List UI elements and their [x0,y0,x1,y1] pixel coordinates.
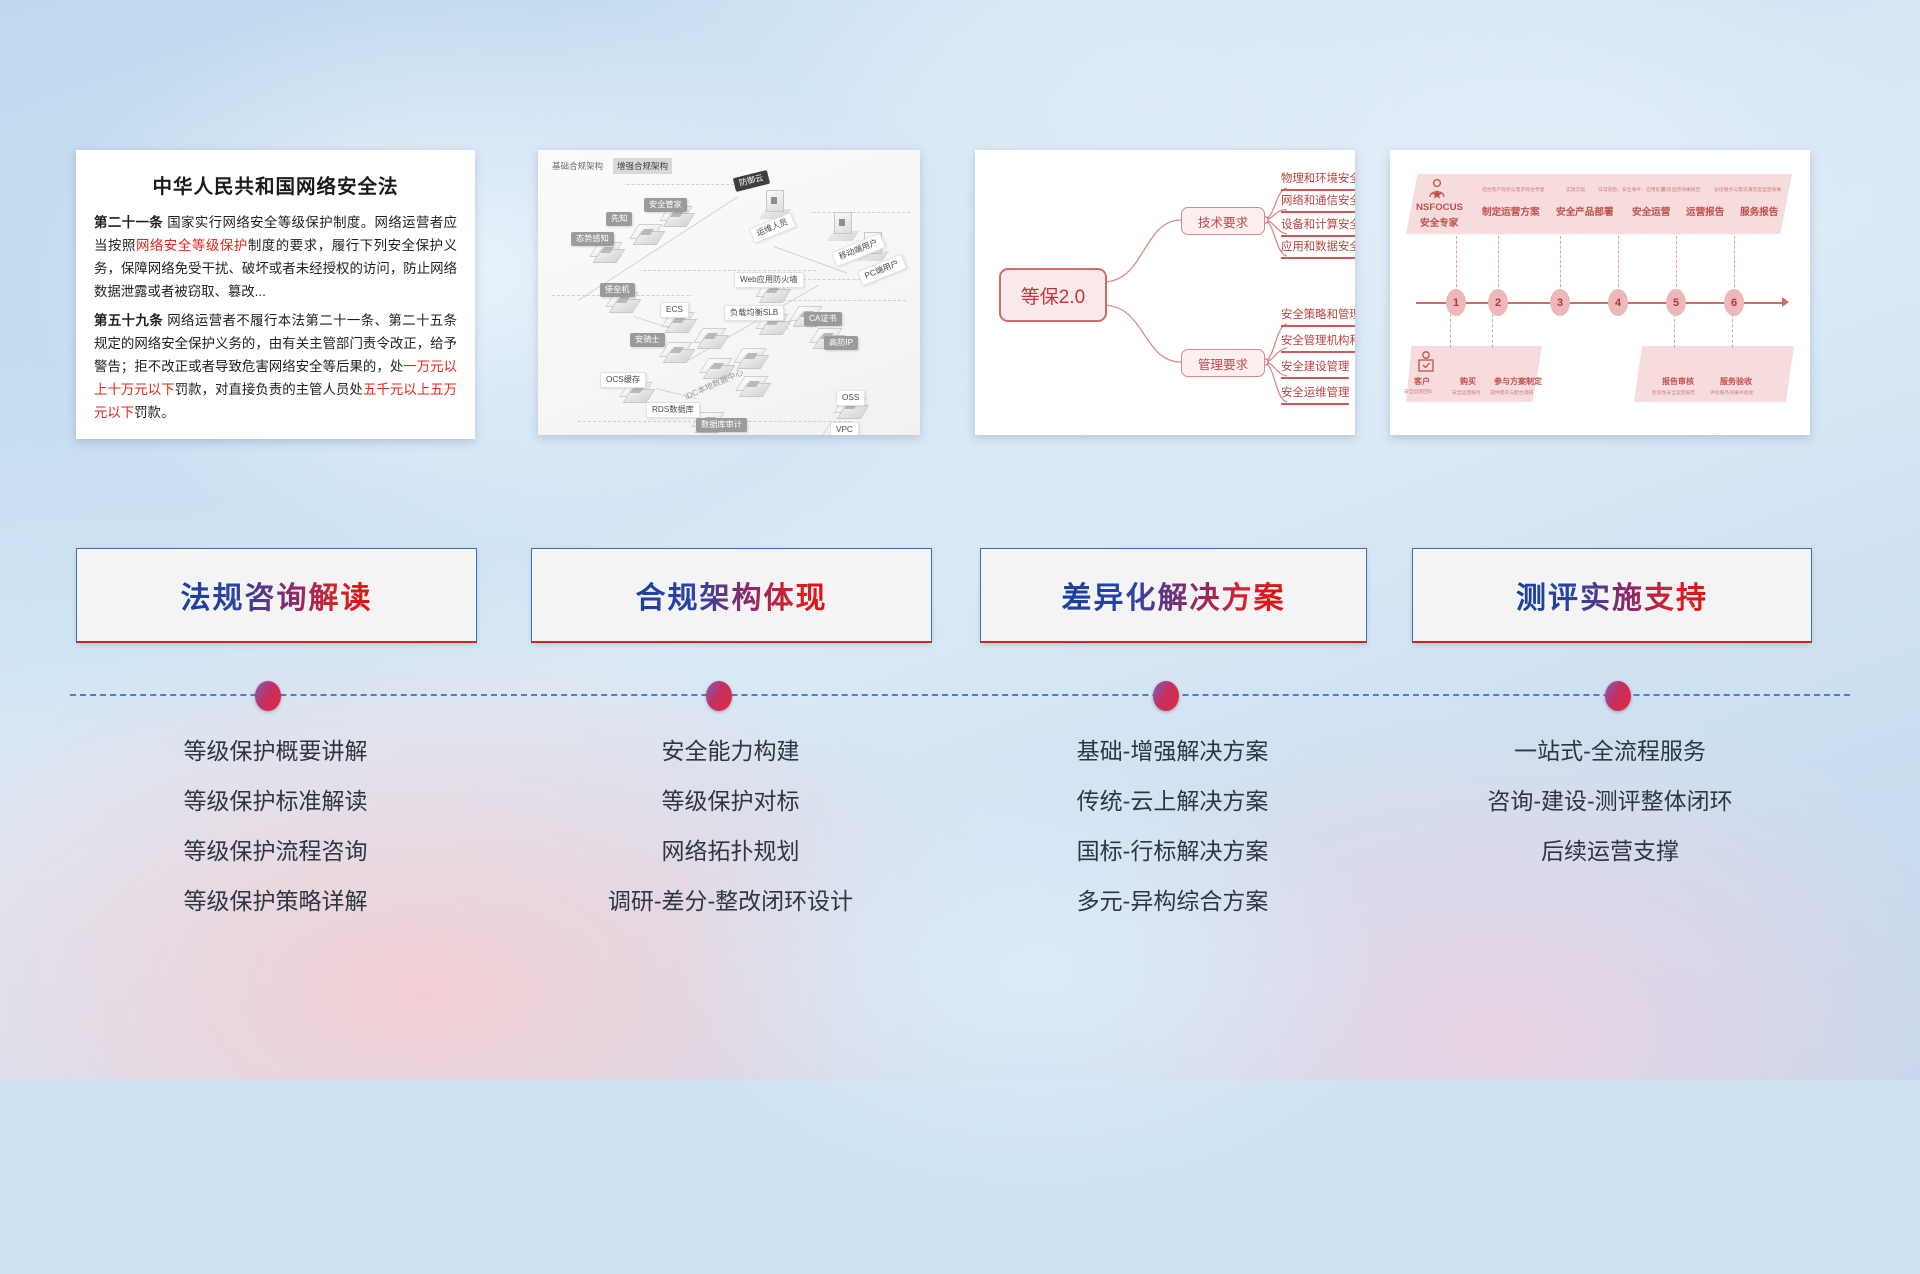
nsfocus-bot-sub-1: 安全运营服务 [1452,389,1481,396]
nsfocus-expert-name: NSFOCUS [1416,202,1463,213]
nsfocus-step-node-6[interactable]: 6 [1724,289,1744,316]
nsfocus-tick-6 [1734,236,1736,292]
nsfocus-bot-cap-1: 购买 [1460,376,1476,387]
law-seg-2-2: 罚款，对直接负责的主管人员处 [175,382,363,397]
nsfocus-top-cap-2: 安全产品部署 [1556,204,1614,218]
list-item: 网络拓扑规划 [531,840,930,863]
nsfocus-top-cap-5: 服务报告 [1740,204,1778,218]
nsfocus-expert-role: 安全专家 [1420,215,1458,229]
law-seg-2-4: 罚款。 [134,405,174,420]
mindmap-preview-card[interactable]: 等保2.0 技术要求 管理要求 物理和环境安全 网络和通信安全 设备和计算安全 … [975,150,1355,435]
arch-label-waf: Web应用防火墙 [734,272,804,288]
nsfocus-preview-card[interactable]: NSFOCUS 安全专家 客户 安全运营团队 结合客户现状与需求综合考量 制定运… [1390,150,1810,435]
nsfocus-step-node-1[interactable]: 1 [1446,289,1466,316]
list-item: 等级保护对标 [531,790,930,813]
nsfocus-top-sub-5: 总结服务与需求满足度运营效果 [1714,186,1781,193]
section-items-1: 等级保护概要讲解 等级保护标准解读 等级保护流程咨询 等级保护策略详解 [76,740,475,940]
arch-node-ecs-2 [698,328,728,348]
nsfocus-tick-2 [1498,236,1500,292]
mindmap-leaf-app-data: 应用和数据安全 [1281,240,1355,259]
arch-label-anti-ddos-ip: 高防IP [824,336,858,350]
arch-node-xianzhi [634,224,664,244]
arch-label-rds: RDS数据库 [646,402,700,418]
mindmap-leaf-ops-mgmt: 安全运维管理 [1281,386,1349,405]
architecture-diagram: 基础合规架构 增强合规架构 [538,150,920,435]
arch-label-ocs-cache: OCS缓存 [600,372,646,388]
list-item: 等级保护流程咨询 [76,840,475,863]
arch-label-db-audit: 数据库审计 [696,418,747,432]
nsfocus-step-node-3[interactable]: 3 [1550,289,1570,316]
nsfocus-top-sub-3: 日常巡检、安全事件、应用处置 [1598,186,1665,193]
law-preview-card[interactable]: 中华人民共和国网络安全法 第二十一条 国家实行网络安全等级保护制度。网络运营者应… [76,150,475,439]
arch-label-security-butler: 安全管家 [644,198,687,212]
nsfocus-bot-cap-3: 报告审核 [1662,376,1694,387]
arch-label-vpc: VPC [830,422,859,435]
mindmap-leaf-network-comm: 网络和通信安全 [1281,194,1355,213]
list-item: 安全能力构建 [531,740,930,763]
nsfocus-bot-sub-3: 阶段性安全运营报告 [1652,389,1695,396]
nsfocus-step-node-2[interactable]: 2 [1488,289,1508,316]
nsfocus-bot-sub-4: 评估服务效果并验收 [1710,389,1753,396]
section-items-4: 一站式-全流程服务 咨询-建设-测评整体闭环 后续运营支撑 [1400,740,1820,890]
architecture-preview-card[interactable]: 基础合规架构 增强合规架构 [538,150,920,435]
law-paragraph-1: 第二十一条 国家实行网络安全等级保护制度。网络运营者应当按照网络安全等级保护制度… [94,211,457,303]
arch-label-ca-cert: CA证书 [804,312,842,326]
nsfocus-bot-sub-2: 提供需求与配合调研 [1490,389,1533,396]
mindmap-branch-technical[interactable]: 技术要求 [1181,207,1265,235]
tab-basic-compliance[interactable]: 基础合规架构 [548,158,607,174]
list-item: 咨询-建设-测评整体闭环 [1400,790,1820,813]
nsfocus-tick-b2 [1492,314,1494,348]
architecture-tabs[interactable]: 基础合规架构 增强合规架构 [548,158,672,174]
section-title-row: 法规咨询解读 合规架构体现 差异化解决方案 测评实施支持 [0,548,1920,640]
timeline-marker-2[interactable] [706,681,732,711]
nsfocus-top-cap-4: 运营报告 [1686,204,1724,218]
nsfocus-step-node-4[interactable]: 4 [1608,289,1628,316]
mindmap-branch-management[interactable]: 管理要求 [1181,349,1265,377]
customer-person-icon [1416,350,1436,374]
arch-label-anqishi: 安骑士 [630,333,665,347]
list-item: 一站式-全流程服务 [1400,740,1820,763]
nsfocus-top-cap-3: 安全运营 [1632,204,1670,218]
nsfocus-tick-3 [1560,236,1562,292]
arch-label-xianzhi: 先知 [606,212,632,226]
list-item: 等级保护标准解读 [76,790,475,813]
section-title-label-2: 合规架构体现 [636,573,828,617]
list-item: 等级保护策略详解 [76,890,475,913]
nsfocus-customer-role: 安全运营团队 [1404,388,1433,395]
expert-person-icon [1426,178,1448,200]
law-seg-1-1: 网络安全等级保护 [136,238,248,253]
law-title: 中华人民共和国网络安全法 [94,170,457,199]
nsfocus-tick-b4 [1732,314,1734,348]
timeline-marker-1[interactable] [255,681,281,711]
section-title-box-1[interactable]: 法规咨询解读 [76,548,477,643]
nsfocus-customer-name: 客户 [1414,376,1430,387]
list-item: 基础-增强解决方案 [975,740,1370,763]
nsfocus-top-sub-2: 实施方案 [1566,186,1585,193]
law-document: 中华人民共和国网络安全法 第二十一条 国家实行网络安全等级保护制度。网络运营者应… [76,150,475,439]
nsfocus-top-sub-1: 结合客户现状与需求综合考量 [1482,186,1544,193]
list-item: 后续运营支撑 [1400,840,1820,863]
nsfocus-timeline-diagram: NSFOCUS 安全专家 客户 安全运营团队 结合客户现状与需求综合考量 制定运… [1390,150,1810,435]
law-paragraph-2: 第五十九条 网络运营者不履行本法第二十一条、第二十五条规定的网络安全保护义务的，… [94,309,457,424]
timeline-dashed-line [70,694,1850,696]
mindmap-leaf-build-mgmt: 安全建设管理 [1281,360,1349,379]
section-items-2: 安全能力构建 等级保护对标 网络拓扑规划 调研-差分-整改闭环设计 [531,740,930,940]
section-title-label-3: 差异化解决方案 [1062,573,1286,617]
nsfocus-tick-b3 [1674,314,1676,348]
nsfocus-tick-1 [1456,236,1458,292]
arch-node-anqishi [664,342,694,362]
arch-label-slb: 负载均衡SLB [724,305,784,321]
arch-label-bastion: 堡垒机 [600,283,635,297]
thumbnail-row: 中华人民共和国网络安全法 第二十一条 国家实行网络安全等级保护制度。网络运营者应… [0,150,1920,440]
tab-enhanced-compliance[interactable]: 增强合规架构 [613,158,672,174]
list-item: 国标-行标解决方案 [975,840,1370,863]
list-item: 调研-差分-整改闭环设计 [531,890,930,913]
nsfocus-top-sub-4: 阶段运营效果报告 [1662,186,1700,193]
section-title-box-3[interactable]: 差异化解决方案 [980,548,1367,643]
arch-icon-mobile-user [830,212,856,242]
law-article-number-1: 第二十一条 [94,215,163,230]
list-item: 多元-异构综合方案 [975,890,1370,913]
list-item: 等级保护概要讲解 [76,740,475,763]
nsfocus-step-node-5[interactable]: 5 [1666,289,1686,316]
mindmap-diagram: 等保2.0 技术要求 管理要求 物理和环境安全 网络和通信安全 设备和计算安全 … [975,150,1355,435]
arch-label-situation: 态势感知 [571,232,614,246]
nsfocus-bot-cap-4: 服务验收 [1720,376,1752,387]
mindmap-leaf-org-personnel: 安全管理机构和人员 [1281,334,1355,353]
list-item: 传统-云上解决方案 [975,790,1370,813]
arch-label-ecs: ECS [660,302,689,318]
timeline-marker-4[interactable] [1605,681,1631,711]
slide-stage: 中华人民共和国网络安全法 第二十一条 国家实行网络安全等级保护制度。网络运营者应… [0,0,1920,1080]
section-title-label-1: 法规咨询解读 [181,573,373,617]
mindmap-leaf-physical-env: 物理和环境安全 [1281,172,1355,191]
law-article-number-2: 第五十九条 [94,313,163,328]
section-title-label-4: 测评实施支持 [1516,573,1708,617]
section-title-box-4[interactable]: 测评实施支持 [1412,548,1812,643]
section-title-box-2[interactable]: 合规架构体现 [531,548,932,643]
timeline-marker-3[interactable] [1153,681,1179,711]
nsfocus-bot-cap-2: 参与方案制定 [1494,376,1542,387]
arch-label-oss: OSS [836,390,865,406]
mindmap-leaf-device-compute: 设备和计算安全 [1281,218,1355,237]
nsfocus-tick-b1 [1450,314,1452,348]
mindmap-leaf-policy-system: 安全策略和管理制度 [1281,308,1355,327]
nsfocus-top-cap-1: 制定运营方案 [1482,204,1540,218]
mindmap-root-node[interactable]: 等保2.0 [999,268,1107,322]
nsfocus-axis-arrow-icon [1782,297,1789,307]
nsfocus-tick-4 [1618,236,1620,292]
section-items-3: 基础-增强解决方案 传统-云上解决方案 国标-行标解决方案 多元-异构综合方案 [975,740,1370,940]
nsfocus-tick-5 [1676,236,1678,292]
